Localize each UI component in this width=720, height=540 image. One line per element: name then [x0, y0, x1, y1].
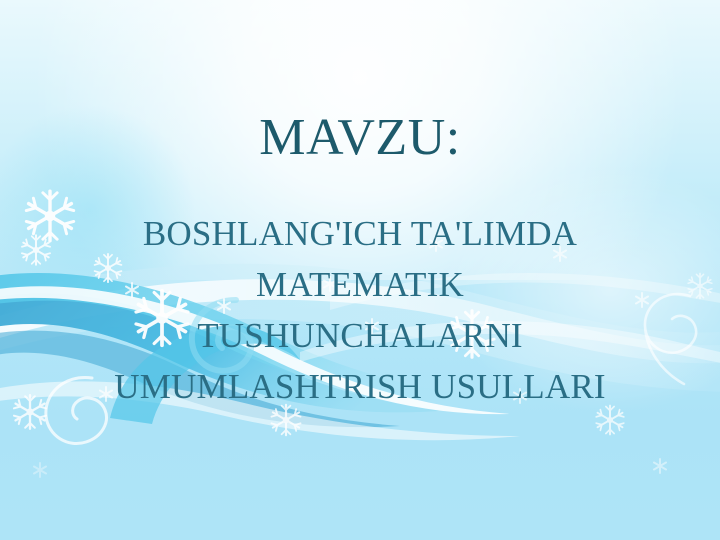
slide-subtitle: BOSHLANG'ICH TA'LIMDA MATEMATIK TUSHUNCH…: [10, 208, 710, 412]
subtitle-line-4: UMUMLASHTRISH USULLARI: [10, 361, 710, 412]
subtitle-line-3: TUSHUNCHALARNI: [10, 310, 710, 361]
presentation-slide: MAVZU: BOSHLANG'ICH TA'LIMDA MATEMATIK T…: [0, 0, 720, 540]
slide-text-layer: MAVZU: BOSHLANG'ICH TA'LIMDA MATEMATIK T…: [0, 0, 720, 540]
subtitle-line-2: MATEMATIK: [10, 259, 710, 310]
subtitle-line-1: BOSHLANG'ICH TA'LIMDA: [10, 208, 710, 259]
page-title: MAVZU:: [259, 112, 460, 164]
